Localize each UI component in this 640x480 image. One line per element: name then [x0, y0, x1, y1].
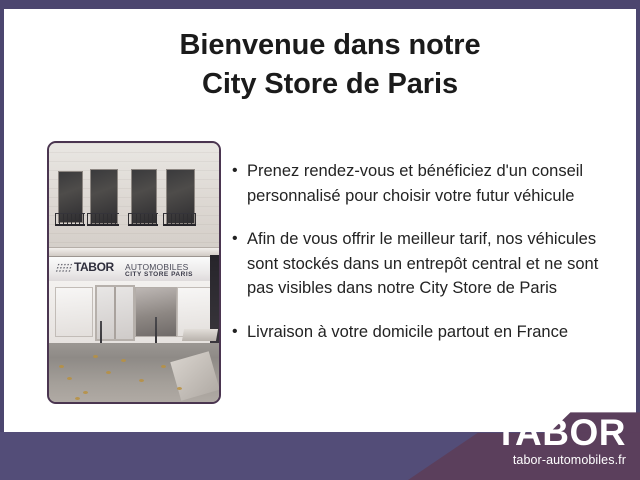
bullet-item-text: Prenez rendez-vous et bénéficiez d'un co…	[247, 159, 624, 208]
photo-balcony-railing	[55, 213, 85, 226]
tabor-logo-wordmark: TABOR	[458, 414, 626, 451]
photo-fallen-leaf	[161, 365, 166, 368]
bullet-item-text: Afin de vous offrir le meilleur tarif, n…	[247, 227, 624, 301]
tabor-logo: TABOR tabor-automobiles.fr	[458, 414, 626, 467]
slide-frame-left-edge	[0, 0, 4, 480]
slide-title-line-1: Bienvenue dans notre	[110, 26, 550, 65]
photo-sign-brand: TABOR	[74, 260, 114, 274]
bullet-item: • Prenez rendez-vous et bénéficiez d'un …	[232, 159, 624, 208]
bullet-marker-icon: •	[232, 227, 247, 252]
slide-frame-right-edge	[636, 0, 640, 480]
photo-kerb-stone	[170, 351, 219, 400]
photo-pavement	[49, 343, 219, 402]
photo-fallen-leaf	[139, 379, 144, 382]
photo-step-stone	[182, 329, 218, 341]
photo-fallen-leaf	[67, 377, 72, 380]
bullet-marker-icon: •	[232, 320, 247, 345]
photo-sign-location: CITY STORE PARIS	[125, 271, 193, 278]
photo-storefront-sign: TABOR AUTOMOBILES CITY STORE PARIS	[49, 256, 219, 283]
slide-title-line-2: City Store de Paris	[110, 65, 550, 104]
photo-fallen-leaf	[83, 391, 88, 394]
bullet-item: • Livraison à votre domicile partout en …	[232, 320, 624, 345]
photo-fallen-leaf	[93, 355, 98, 358]
photo-fallen-leaf	[75, 397, 80, 400]
storefront-photo-content: TABOR AUTOMOBILES CITY STORE PARIS	[49, 143, 219, 402]
slide-frame-top-band	[0, 0, 640, 9]
photo-fallen-leaf	[59, 365, 64, 368]
photo-fallen-leaf	[121, 359, 126, 362]
photo-balcony-railing	[87, 213, 119, 226]
tabor-dots-mark-icon	[55, 263, 74, 273]
tabor-logo-url: tabor-automobiles.fr	[458, 453, 626, 467]
bullet-item: • Afin de vous offrir le meilleur tarif,…	[232, 227, 624, 301]
slide-title: Bienvenue dans notre City Store de Paris	[110, 26, 550, 103]
slide-canvas: Bienvenue dans notre City Store de Paris…	[0, 0, 640, 480]
photo-balcony-railing	[128, 213, 158, 226]
storefront-photo: TABOR AUTOMOBILES CITY STORE PARIS	[47, 141, 221, 404]
bullet-list: • Prenez rendez-vous et bénéficiez d'un …	[232, 159, 624, 363]
photo-shop-window	[55, 287, 93, 337]
photo-fallen-leaf	[106, 371, 111, 374]
photo-balcony-railing	[163, 213, 196, 226]
bullet-item-text: Livraison à votre domicile partout en Fr…	[247, 320, 624, 345]
bullet-marker-icon: •	[232, 159, 247, 184]
photo-fallen-leaf	[177, 387, 182, 390]
